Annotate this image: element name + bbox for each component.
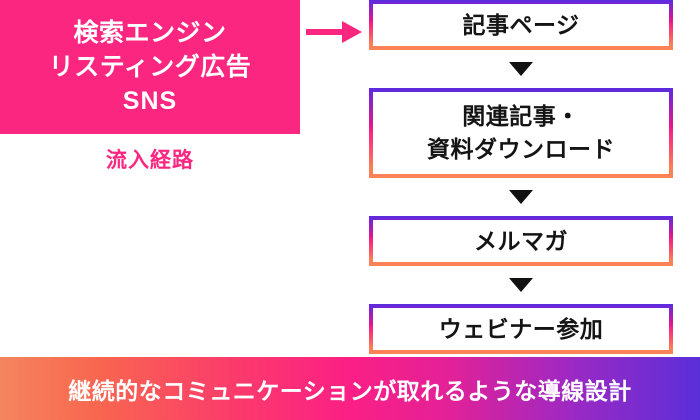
funnel-step-related-articles[interactable]: 関連記事・ 資料ダウンロード [369, 88, 673, 178]
traffic-source-block: 検索エンジン リスティング広告 SNS [0, 0, 300, 134]
funnel-step-label: ウェビナー参加 [439, 313, 604, 346]
arrow-right-icon [306, 19, 364, 45]
triangle-down-icon [509, 190, 533, 204]
funnel-connector-1 [369, 50, 673, 88]
funnel-connector-2 [369, 178, 673, 216]
funnel-flow: 記事ページ 関連記事・ 資料ダウンロード メルマガ ウェビナー参加 [369, 0, 673, 354]
funnel-step-webinar-attendance[interactable]: ウェビナー参加 [369, 304, 673, 354]
traffic-source-line-1: 検索エンジン [73, 16, 226, 50]
funnel-step-label: 記事ページ [462, 9, 579, 42]
summary-banner-text: 継続的なコミュニケーションが取れるような導線設計 [68, 372, 632, 406]
summary-banner: 継続的なコミュニケーションが取れるような導線設計 [0, 357, 700, 420]
funnel-step-label-2: 資料ダウンロード [427, 133, 615, 166]
funnel-step-mail-magazine[interactable]: メルマガ [369, 216, 673, 266]
traffic-source-line-2: リスティング広告 [49, 50, 252, 84]
triangle-down-icon [509, 278, 533, 292]
funnel-step-label: 関連記事・ [462, 100, 580, 133]
funnel-connector-3 [369, 266, 673, 304]
funnel-step-article-page[interactable]: 記事ページ [369, 0, 673, 50]
traffic-source-caption: 流入経路 [0, 144, 300, 174]
funnel-step-label: メルマガ [474, 225, 568, 258]
triangle-down-icon [509, 62, 533, 76]
traffic-source-line-3: SNS [123, 84, 177, 118]
